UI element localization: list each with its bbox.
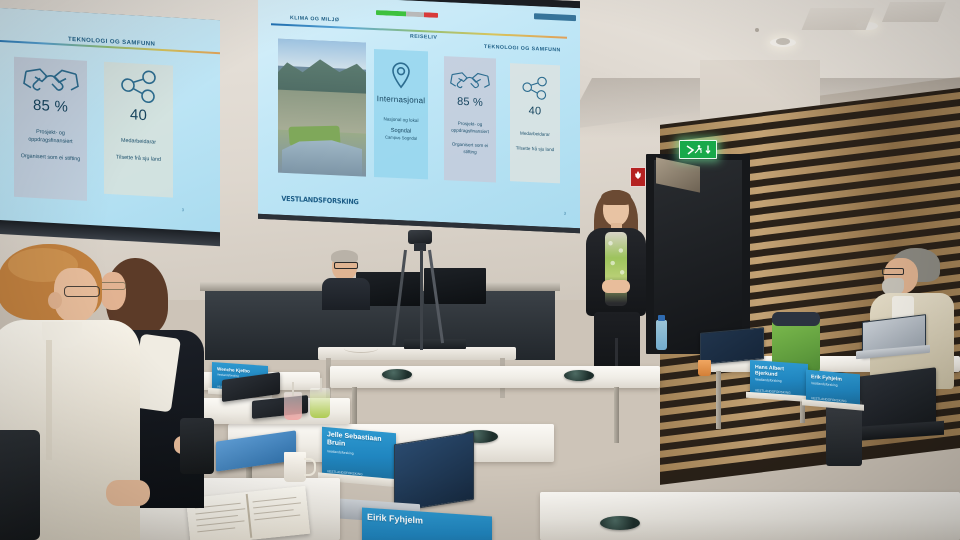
table-center: [330, 366, 660, 388]
presenter-hands: [602, 280, 630, 293]
ceiling-vent: [882, 2, 946, 22]
tripod-leg: [420, 250, 423, 350]
slide-left-line2-medarbeidarar: Tilsette frå sju land: [112, 153, 165, 164]
mug-handle: [304, 458, 316, 476]
straw: [320, 378, 322, 392]
fire-icon: [635, 171, 641, 179]
tripod-camera-icon: [408, 230, 432, 244]
chair-back-foreground[interactable]: [0, 430, 40, 540]
emergency-exit-sign: [679, 140, 717, 159]
slide-left-headline-medarbeidarar: 40: [130, 106, 147, 124]
table-leg: [614, 387, 619, 443]
paper-cup-orange[interactable]: [698, 360, 711, 376]
network-share-icon: [520, 76, 550, 101]
slide-line2-internasjonal: Sogndal: [391, 128, 412, 135]
conference-room-photo: IV TEKNOLOGI OG SAMFUNN 85 % Prosjekt- o…: [0, 0, 960, 540]
jacket-collar: [772, 312, 820, 326]
slide-left-partial-label: IV: [0, 31, 1, 37]
handshake-icon: [23, 63, 79, 96]
slide-left-card-finansiering: 85 % Prosjekt- og oppdragsfinansiert Org…: [14, 57, 87, 201]
attendee1-glasses-icon: [64, 286, 100, 297]
straw: [292, 382, 294, 396]
cable-bundle: [344, 344, 378, 353]
attendee1-hand: [106, 480, 150, 506]
slide-card-finansiering: 85 % Prosjekt- og oppdragsfinansiert Org…: [444, 56, 496, 182]
slide-section-label-reiseliv: REISELIV: [410, 34, 437, 41]
lectern-laptop[interactable]: [404, 339, 466, 349]
bag-left: [180, 418, 214, 474]
slide-line1-internasjonal: Nasjonal og lokal: [380, 116, 423, 125]
water-bottle[interactable]: [656, 320, 667, 350]
slide-line2-medarbeidarar: Tilsette frå sju land: [512, 145, 558, 154]
drinking-glass-pink[interactable]: [284, 392, 302, 420]
slide-line1-finansiering: Prosjekt- og oppdragsfinansiert: [444, 120, 496, 136]
drinking-glass-green[interactable]: [310, 388, 330, 418]
ceiling-speaker: [776, 38, 790, 45]
slide-line1-medarbeidarar: Medarbeidarar: [516, 130, 554, 139]
operator-torso: [322, 278, 370, 310]
slide-left-line1-medarbeidarar: Medarbeidarar: [117, 137, 160, 148]
slide-left-page-number: 3: [182, 207, 184, 212]
slide-line3-internasjonal: Campus Sogndal: [385, 134, 417, 140]
attendee1-placket: [46, 340, 52, 460]
slide-headline-finansiering: 85 %: [457, 96, 483, 109]
projection-screen-left: IV TEKNOLOGI OG SAMFUNN 85 % Prosjekt- o…: [0, 8, 220, 239]
bottle-cap: [658, 315, 665, 321]
slide-card-internasjonal: Internasjonal Nasjonal og lokal Sogndal …: [374, 49, 428, 179]
location-pin-icon: [390, 61, 412, 90]
attendee1-ear: [48, 292, 62, 309]
person-presenter: [578, 188, 656, 370]
slide-left-line2-finansiering: Organisert som ei stifting: [17, 152, 85, 164]
handshake-icon: [450, 68, 490, 92]
slide-left-line1-finansiering: Prosjekt- og oppdragsfinansiert: [14, 127, 87, 147]
fire-alarm-sign: [630, 167, 646, 187]
projection-screen-main: KLIMA OG MILJØ REISELIV TEKNOLOGI OG SAM…: [258, 0, 580, 233]
ceiling-vent: [802, 8, 875, 30]
slide-headline-internasjonal: Internasjonal: [377, 94, 425, 105]
cable-grommet: [564, 370, 594, 381]
placard-front: Eirik Fyhjelm: [362, 507, 492, 540]
slide-page-number: 3: [564, 211, 566, 216]
notebook-spine: [246, 494, 253, 538]
slide-left-card-medarbeidarar: 40 Medarbeidarar Tilsette frå sju land: [104, 62, 173, 198]
slide-line2-finansiering: Organisert som ei stifting: [444, 141, 496, 157]
operator-glasses-icon: [334, 262, 358, 269]
table-leg: [716, 371, 721, 429]
table-right-front: [540, 492, 960, 540]
coffee-mug[interactable]: [284, 452, 306, 482]
attendee-right-glasses-icon: [882, 268, 904, 275]
slide-headline-medarbeidarar: 40: [529, 105, 542, 118]
running-man-icon: [683, 144, 713, 156]
cable-grommet: [382, 369, 412, 380]
ceiling-sensor: [755, 28, 759, 32]
slide-photo-sogndal: [278, 39, 366, 177]
slide-left-headline-finansiering: 85 %: [33, 97, 68, 116]
presenter-hair-front: [601, 190, 631, 205]
cable-grommet: [600, 516, 640, 530]
placard-front-name: Eirik Fyhjelm: [362, 507, 492, 531]
slide-card-medarbeidarar: 40 Medarbeidarar Tilsette frå sju land: [510, 63, 560, 183]
person-operator: [320, 252, 374, 308]
network-share-icon: [118, 69, 160, 105]
laptop-front-center[interactable]: [394, 432, 474, 513]
